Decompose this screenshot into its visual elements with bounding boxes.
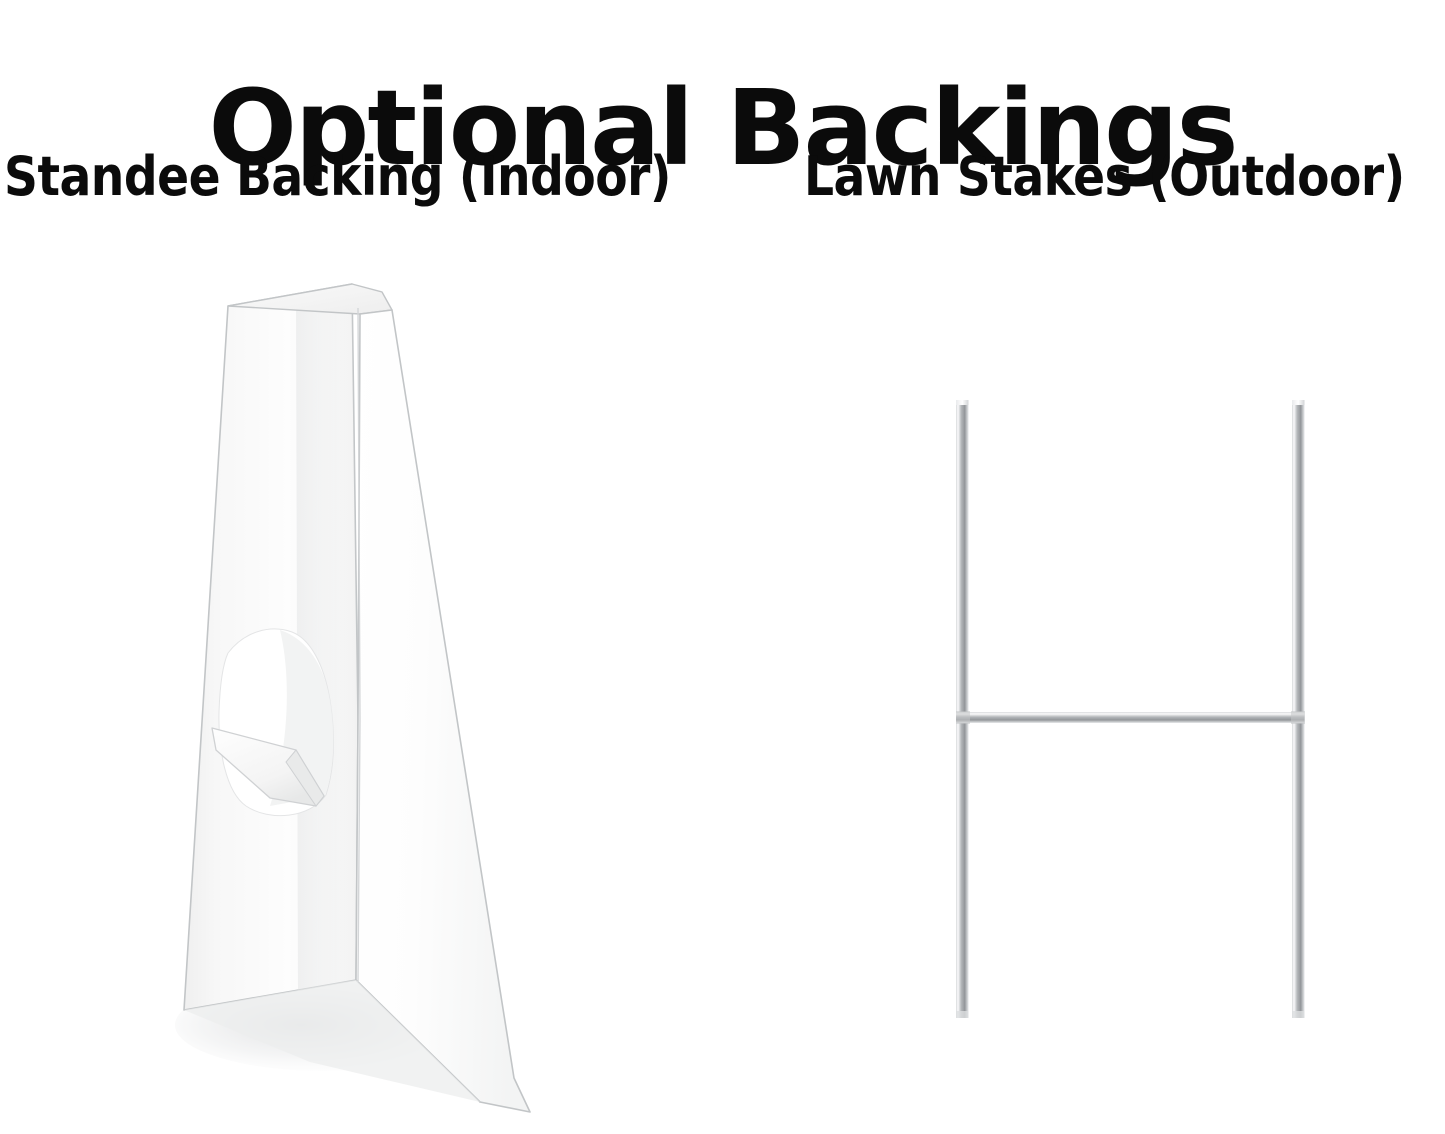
standee-backing-image: White folded cardboard easel standee bac… — [120, 250, 640, 1130]
standee-fold-shading — [296, 284, 358, 990]
lawn-stakes-label: Lawn Stakes (Outdoor) — [804, 142, 1405, 212]
lawn-stakes-image: H-shaped galvanized wire lawn stake fram… — [860, 380, 1400, 1080]
lawn-stake-joint-left — [956, 711, 970, 724]
lawn-stake-right-post — [1292, 400, 1305, 1018]
lawn-stake-crossbar — [956, 712, 1305, 723]
standee-backing-label: Standee Backing (Indoor) — [4, 142, 671, 212]
subtitle-row: Standee Backing (Indoor) Lawn Stakes (Ou… — [0, 142, 1445, 218]
lawn-stake-joint-right — [1291, 711, 1305, 724]
standee-front-panel — [356, 310, 530, 1112]
page-root: Optional Backings Standee Backing (Indoo… — [0, 0, 1445, 1134]
lawn-stake-left-post — [956, 400, 969, 1018]
h-wire-stake-icon — [860, 380, 1400, 1080]
standee-easel-icon — [120, 250, 640, 1130]
